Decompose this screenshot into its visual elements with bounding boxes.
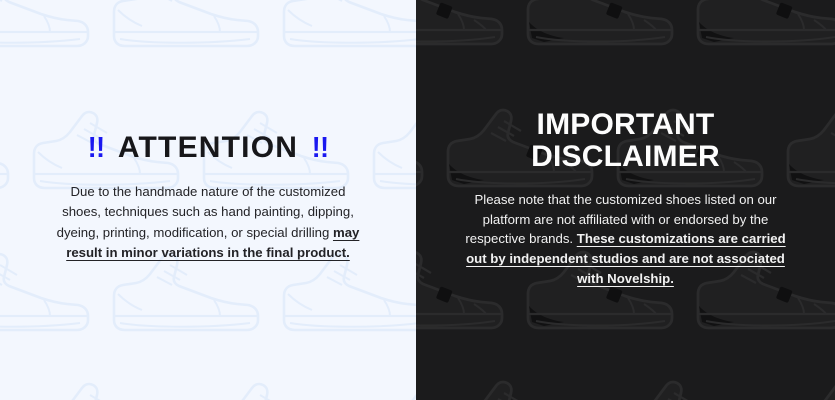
attention-panel: !! ATTENTION !! Due to the handmade natu… <box>0 0 416 400</box>
disclaimer-body: Please note that the customized shoes li… <box>465 190 787 289</box>
attention-body-normal: Due to the handmade nature of the custom… <box>57 184 354 239</box>
attention-disclaimer-banner: !! ATTENTION !! Due to the handmade natu… <box>0 0 835 400</box>
attention-content: !! ATTENTION !! Due to the handmade natu… <box>0 133 416 262</box>
disclaimer-content: IMPORTANT DISCLAIMER Please note that th… <box>416 109 835 289</box>
exclamation-right-icon: !! <box>312 134 329 163</box>
attention-body: Due to the handmade nature of the custom… <box>52 182 364 262</box>
disclaimer-heading: IMPORTANT DISCLAIMER <box>442 109 809 173</box>
attention-title: ATTENTION <box>118 133 298 163</box>
exclamation-left-icon: !! <box>87 134 104 163</box>
disclaimer-heading-line2: DISCLAIMER <box>442 141 809 173</box>
disclaimer-panel: IMPORTANT DISCLAIMER Please note that th… <box>416 0 835 400</box>
disclaimer-heading-line1: IMPORTANT <box>442 109 809 141</box>
attention-heading: !! ATTENTION !! <box>26 133 390 163</box>
